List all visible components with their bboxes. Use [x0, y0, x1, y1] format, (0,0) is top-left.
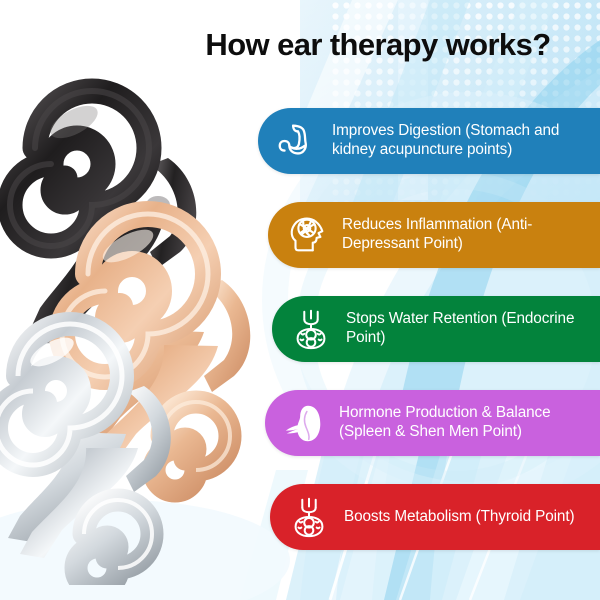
benefit-label: Improves Digestion (Stomach and kidney a…: [332, 122, 600, 159]
stomach-icon: [272, 116, 322, 166]
benefits-list: Improves Digestion (Stomach and kidney a…: [0, 108, 600, 578]
benefit-label: Boosts Metabolism (Thyroid Point): [344, 508, 591, 527]
thyroid-icon: [284, 492, 334, 542]
benefit-label: Reduces Inflammation (Anti-Depressant Po…: [342, 216, 600, 253]
benefit-label: Hormone Production & Balance (Spleen & S…: [339, 404, 600, 441]
benefit-banner-reduces-inflammation[interactable]: Reduces Inflammation (Anti-Depressant Po…: [268, 202, 600, 268]
benefit-banner-stops-water-retention[interactable]: Stops Water Retention (Endocrine Point): [272, 296, 600, 362]
spleen-icon: [279, 398, 329, 448]
benefit-banner-boosts-metabolism[interactable]: Boosts Metabolism (Thyroid Point): [270, 484, 600, 550]
benefit-banner-improves-digestion[interactable]: Improves Digestion (Stomach and kidney a…: [258, 108, 600, 174]
thyroid-gland-icon: [286, 304, 336, 354]
infographic-canvas: How ear therapy works?: [0, 0, 600, 600]
benefit-banner-hormone-production[interactable]: Hormone Production & Balance (Spleen & S…: [265, 390, 600, 456]
benefit-label: Stops Water Retention (Endocrine Point): [346, 310, 600, 347]
head-brain-icon: [282, 210, 332, 260]
